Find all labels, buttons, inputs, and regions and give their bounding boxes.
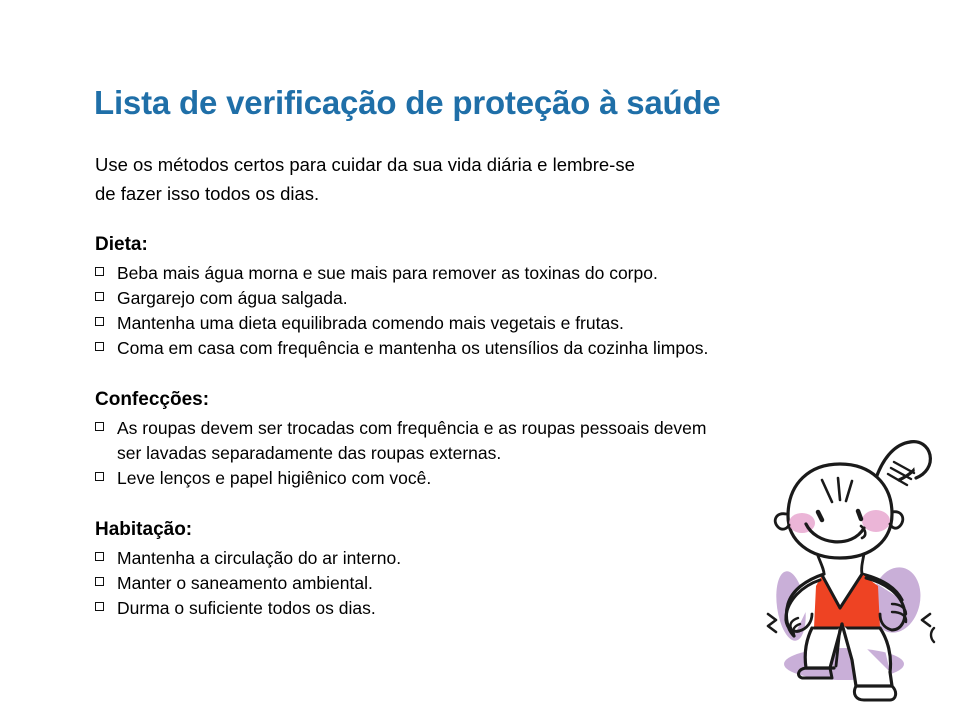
list-item[interactable]: Coma em casa com frequência e mantenha o…	[95, 336, 885, 361]
checkbox-icon[interactable]	[95, 552, 104, 561]
checkbox-icon[interactable]	[95, 267, 104, 276]
list-item-label-continuation: ser lavadas separadamente das roupas ext…	[117, 443, 501, 463]
checkbox-icon[interactable]	[95, 292, 104, 301]
check-list-dieta: Beba mais água morna e sue mais para rem…	[95, 261, 885, 361]
checkbox-icon[interactable]	[95, 317, 104, 326]
slide-canvas: Lista de verificação de proteção à saúde…	[0, 0, 960, 720]
checkbox-icon[interactable]	[95, 602, 104, 611]
cartoon-child-illustration	[744, 428, 960, 710]
intro-line-2: de fazer isso todos os dias.	[95, 179, 815, 208]
intro-paragraph: Use os métodos certos para cuidar da sua…	[95, 150, 815, 208]
list-item-label: Beba mais água morna e sue mais para rem…	[117, 261, 885, 286]
list-item[interactable]: Beba mais água morna e sue mais para rem…	[95, 261, 885, 286]
list-item-label: Gargarejo com água salgada.	[117, 286, 885, 311]
list-item-label: Mantenha uma dieta equilibrada comendo m…	[117, 311, 885, 336]
checkbox-icon[interactable]	[95, 472, 104, 481]
cartoon-child-icon	[744, 428, 960, 710]
checkbox-icon[interactable]	[95, 422, 104, 431]
section-heading-confeccoes: Confecções:	[95, 387, 885, 413]
list-item-label: Coma em casa com frequência e mantenha o…	[117, 336, 885, 361]
checkbox-icon[interactable]	[95, 342, 104, 351]
list-item[interactable]: Gargarejo com água salgada.	[95, 286, 885, 311]
page-title: Lista de verificação de proteção à saúde	[94, 84, 894, 122]
section-dieta: Dieta: Beba mais água morna e sue mais p…	[95, 232, 885, 361]
intro-line-1: Use os métodos certos para cuidar da sua…	[95, 150, 815, 179]
checkbox-icon[interactable]	[95, 577, 104, 586]
list-item[interactable]: Mantenha uma dieta equilibrada comendo m…	[95, 311, 885, 336]
section-heading-dieta: Dieta:	[95, 232, 885, 258]
